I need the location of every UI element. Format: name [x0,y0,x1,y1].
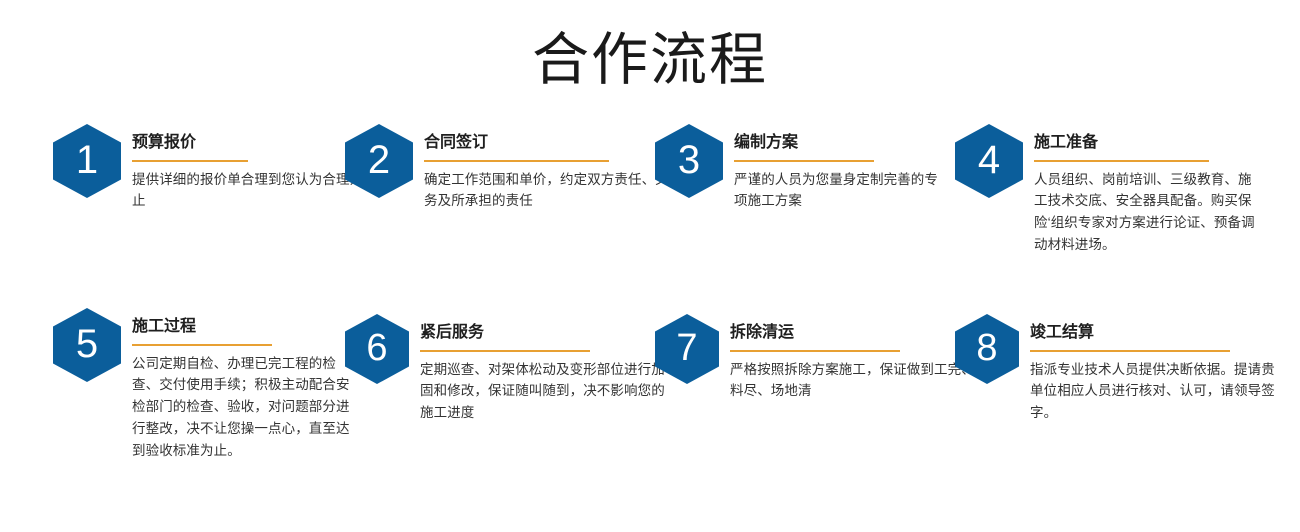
title-underline-rule [132,344,272,346]
step-number-hexagon: 3 [655,124,723,198]
title-underline-rule [730,350,900,352]
step-title: 预算报价 [132,132,305,154]
step-title: 拆除清运 [730,322,915,344]
step-content: 拆除清运 严格按照拆除方案施工，保证做到工完、料尽、场地清 [730,314,915,402]
step-number-label: 6 [366,329,387,367]
step-content: 合同签订 确定工作范围和单价，约定双方责任、义务及所承担的责任 [424,124,610,212]
step-number-label: 4 [978,140,1000,180]
process-steps-grid: 1 预算报价 提供详细的报价单合理到您认为合理为止 2 合同签订 确定工作范围和… [0,124,1300,500]
step-number-label: 5 [76,324,98,364]
step-content: 编制方案 严谨的人员为您量身定制完善的专项施工方案 [734,124,915,212]
title-underline-rule [420,350,590,352]
title-underline-rule [424,160,609,162]
step-title: 施工准备 [1034,132,1300,154]
step-number-label: 8 [976,329,997,367]
process-row-bottom: 5 施工过程 公司定期自检、办理已完工程的检查、交付使用手续；积极主动配合安检部… [0,300,1300,500]
title-underline-rule [1034,160,1209,162]
process-step-2[interactable]: 2 合同签订 确定工作范围和单价，约定双方责任、义务及所承担的责任 [305,124,610,212]
step-number-label: 1 [76,140,98,180]
page-title: 合作流程 [0,28,1300,94]
process-step-8[interactable]: 8 竣工结算 指派专业技术人员提供决断依据。提请贵单位相应人员进行核对、认可，请… [915,300,1300,424]
process-step-7[interactable]: 7 拆除清运 严格按照拆除方案施工，保证做到工完、料尽、场地清 [610,300,915,402]
title-underline-rule [734,160,874,162]
step-title: 紧后服务 [420,322,610,344]
step-number-label: 3 [678,140,700,180]
step-title: 编制方案 [734,132,915,154]
step-description: 人员组织、岗前培训、三级教育、施工技术交底、安全器具配备。购买保险‘组织专家对方… [1034,169,1264,256]
step-number-hexagon: 6 [345,314,409,384]
process-step-4[interactable]: 4 施工准备 人员组织、岗前培训、三级教育、施工技术交底、安全器具配备。购买保险… [915,124,1300,256]
step-content: 竣工结算 指派专业技术人员提供决断依据。提请贵单位相应人员进行核对、认可，请领导… [1030,314,1300,424]
step-number-hexagon: 8 [955,314,1019,384]
step-number-hexagon: 5 [53,308,121,382]
step-content: 施工过程 公司定期自检、办理已完工程的检查、交付使用手续；积极主动配合安检部门的… [132,308,305,462]
step-content: 施工准备 人员组织、岗前培训、三级教育、施工技术交底、安全器具配备。购买保险‘组… [1034,124,1300,256]
step-number-hexagon: 7 [655,314,719,384]
step-number-label: 7 [676,329,697,367]
process-step-6[interactable]: 6 紧后服务 定期巡查、对架体松动及变形部位进行加固和修改，保证随叫随到，决不影… [305,300,610,424]
cooperation-process-poster: 合作流程 1 预算报价 提供详细的报价单合理到您认为合理为止 2 合同签订 [0,0,1300,532]
process-row-top: 1 预算报价 提供详细的报价单合理到您认为合理为止 2 合同签订 确定工作范围和… [0,124,1300,300]
step-number-label: 2 [368,140,390,180]
step-number-hexagon: 4 [955,124,1023,198]
step-title: 竣工结算 [1030,322,1300,344]
title-underline-rule [132,160,248,162]
process-step-3[interactable]: 3 编制方案 严谨的人员为您量身定制完善的专项施工方案 [610,124,915,212]
step-number-hexagon: 1 [53,124,121,198]
title-underline-rule [1030,350,1230,352]
step-title: 合同签订 [424,132,610,154]
step-content: 预算报价 提供详细的报价单合理到您认为合理为止 [132,124,305,212]
step-content: 紧后服务 定期巡查、对架体松动及变形部位进行加固和修改，保证随叫随到，决不影响您… [420,314,610,424]
step-title: 施工过程 [132,316,305,338]
process-step-1[interactable]: 1 预算报价 提供详细的报价单合理到您认为合理为止 [0,124,305,212]
process-step-5[interactable]: 5 施工过程 公司定期自检、办理已完工程的检查、交付使用手续；积极主动配合安检部… [0,300,305,462]
step-description: 指派专业技术人员提供决断依据。提请贵单位相应人员进行核对、认可，请领导签字。 [1030,359,1286,425]
step-number-hexagon: 2 [345,124,413,198]
